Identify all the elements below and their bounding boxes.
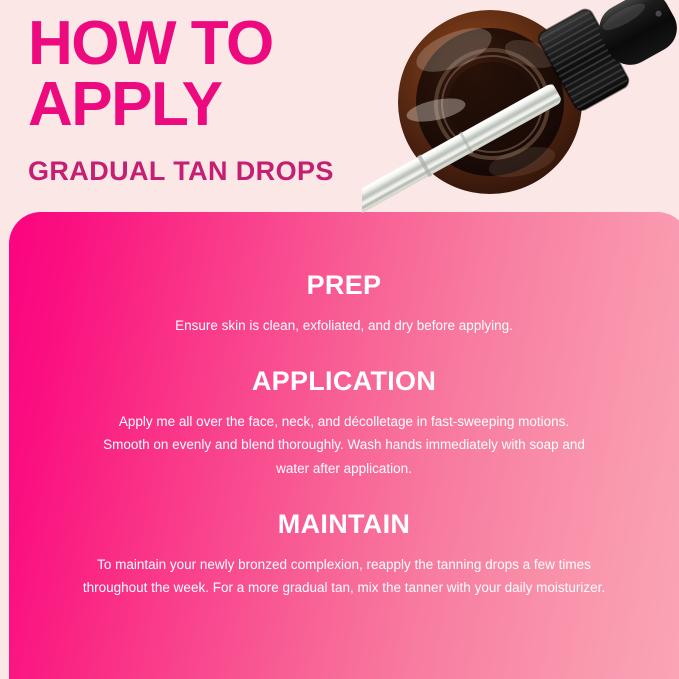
- section-body-application: Apply me all over the face, neck, and dé…: [94, 410, 594, 480]
- section-heading-application: APPLICATION: [9, 366, 679, 397]
- title-block: HOW TO APPLY GRADUAL TAN DROPS: [28, 14, 334, 187]
- section-body-maintain: To maintain your newly bronzed complexio…: [72, 553, 617, 599]
- section-application: APPLICATION Apply me all over the face, …: [9, 366, 679, 480]
- header-zone: HOW TO APPLY GRADUAL TAN DROPS: [0, 0, 679, 214]
- sections-list: PREP Ensure skin is clean, exfoliated, a…: [9, 212, 679, 599]
- page-subtitle: GRADUAL TAN DROPS: [28, 136, 334, 187]
- instructions-panel: PREP Ensure skin is clean, exfoliated, a…: [9, 212, 679, 679]
- section-maintain: MAINTAIN To maintain your newly bronzed …: [9, 509, 679, 599]
- section-body-prep: Ensure skin is clean, exfoliated, and dr…: [84, 314, 604, 337]
- section-prep: PREP Ensure skin is clean, exfoliated, a…: [9, 270, 679, 337]
- page-title: HOW TO APPLY: [28, 14, 334, 136]
- how-to-apply-infographic: HOW TO APPLY GRADUAL TAN DROPS: [0, 0, 679, 679]
- section-heading-maintain: MAINTAIN: [9, 509, 679, 540]
- section-heading-prep: PREP: [9, 270, 679, 301]
